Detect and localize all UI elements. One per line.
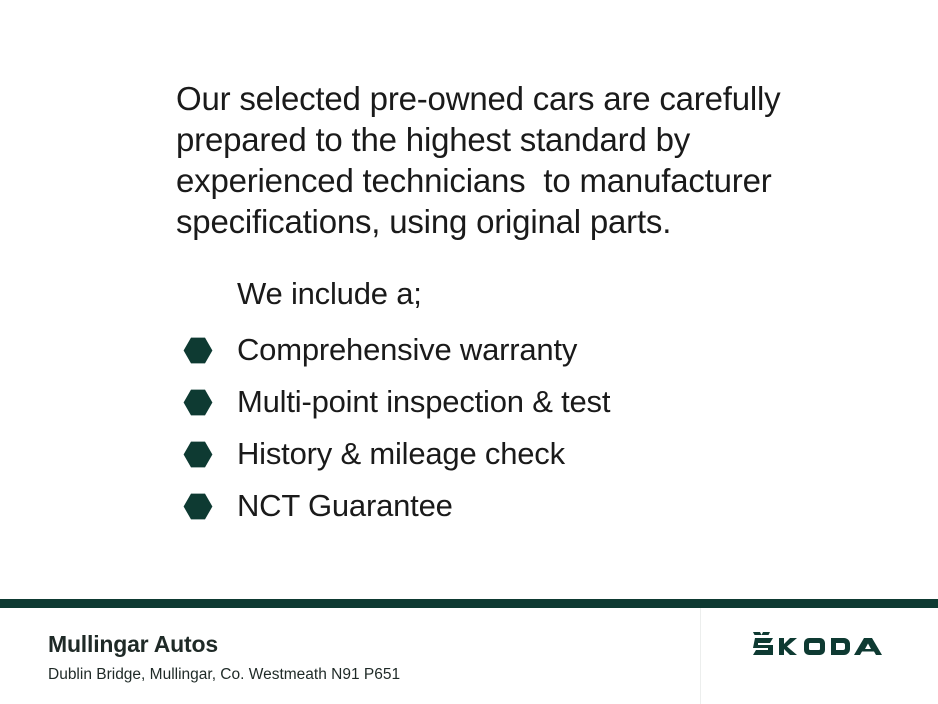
hexagon-bullet-icon <box>183 441 213 468</box>
slide-canvas: Our selected pre-owned cars are carefull… <box>0 0 938 704</box>
list-item-label: Multi-point inspection & test <box>237 384 610 420</box>
headline-line-2: prepared to the highest standard by <box>176 119 816 160</box>
include-lead-text: We include a; <box>237 274 422 314</box>
dealer-address: Dublin Bridge, Mullingar, Co. Westmeath … <box>48 665 400 685</box>
headline-paragraph: Our selected pre-owned cars are carefull… <box>176 78 816 242</box>
hexagon-bullet-icon <box>183 337 213 364</box>
dealer-name: Mullingar Autos <box>48 630 218 658</box>
skoda-wordmark-logo <box>750 632 890 660</box>
list-item: NCT Guarantee <box>183 480 783 532</box>
list-item-label: History & mileage check <box>237 436 565 472</box>
list-item: History & mileage check <box>183 428 783 480</box>
headline-line-3: experienced technicians to manufacturer <box>176 160 816 201</box>
list-item: Multi-point inspection & test <box>183 376 783 428</box>
list-item: Comprehensive warranty <box>183 324 783 376</box>
hexagon-bullet-icon <box>183 389 213 416</box>
list-item-label: NCT Guarantee <box>237 488 453 524</box>
list-item-label: Comprehensive warranty <box>237 332 577 368</box>
footer-accent-bar <box>0 599 938 608</box>
headline-line-1: Our selected pre-owned cars are carefull… <box>176 78 816 119</box>
hexagon-bullet-icon <box>183 493 213 520</box>
inclusions-list: Comprehensive warranty Multi-point inspe… <box>183 324 783 532</box>
footer: Mullingar Autos Dublin Bridge, Mullingar… <box>0 608 938 704</box>
headline-line-4: specifications, using original parts. <box>176 201 816 242</box>
